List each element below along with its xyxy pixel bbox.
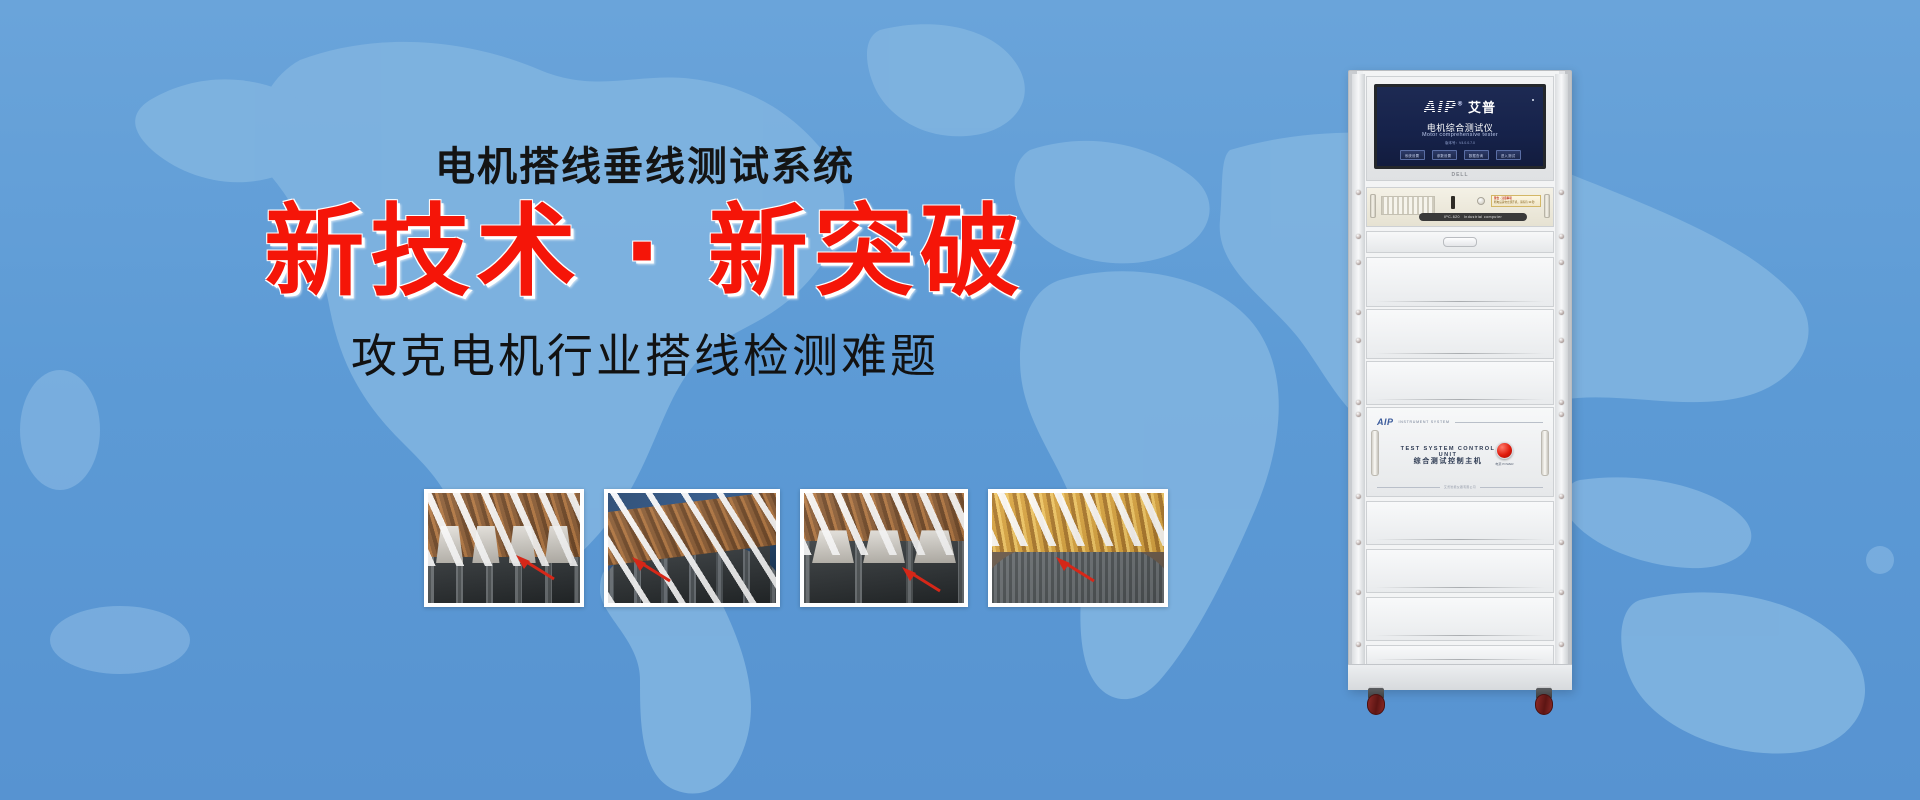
rack-screw xyxy=(1559,400,1564,405)
ipc-handle-left[interactable] xyxy=(1370,194,1376,218)
ipc-warning-label: 警告 · 注意事项 断电后请勿立即开机，请等待 30 秒 xyxy=(1491,195,1541,207)
rack-screw xyxy=(1559,494,1564,499)
test-equipment-rack: AIP®艾普 电机综合测试仪 Motor comprehensive teste… xyxy=(1348,70,1572,690)
ipc-model-plate: IPC-620 Industrial computer xyxy=(1419,213,1527,221)
rack-screw xyxy=(1356,190,1361,195)
caster-wheel-right xyxy=(1534,688,1554,716)
ipc-drive-slot[interactable] xyxy=(1451,196,1455,209)
rack-screw xyxy=(1559,310,1564,315)
control-unit-footer: 艾普智能仪器有限公司 xyxy=(1377,485,1543,489)
product-photo-strip xyxy=(424,489,1168,607)
rack-screw xyxy=(1559,260,1564,265)
drawer-handle[interactable] xyxy=(1443,237,1477,247)
rack-screw xyxy=(1559,642,1564,647)
aip-brand-logo: AIP®艾普 xyxy=(1377,99,1543,115)
rack-screw xyxy=(1559,338,1564,343)
control-unit-bay: AIP INSTRUMENT SYSTEM TEST SYSTEM CONTRO… xyxy=(1366,407,1554,497)
hero-text-block: 电机搭线垂线测试系统 新技术 · 新突破 攻克电机行业搭线检测难题 xyxy=(0,0,1290,800)
photo-4-canvas xyxy=(992,493,1164,603)
annotation-arrow-icon xyxy=(630,557,672,583)
rack-screw xyxy=(1356,400,1361,405)
promo-banner: 电机搭线垂线测试系统 新技术 · 新突破 攻克电机行业搭线检测难题 xyxy=(0,0,1920,800)
aip-wordmark: AIP xyxy=(1424,97,1457,116)
ipc-lock-dial-icon[interactable] xyxy=(1477,197,1485,205)
rack-screw xyxy=(1559,590,1564,595)
aip-brand-cn: 艾普 xyxy=(1468,101,1496,116)
control-unit-footer-note: 艾普智能仪器有限公司 xyxy=(1444,485,1476,489)
ipc-model: IPC-620 xyxy=(1444,215,1460,219)
brand-divider xyxy=(1455,422,1543,423)
hero-title: 新技术 · 新突破 xyxy=(0,196,1290,308)
screen-button-start-test[interactable]: 进入测试 xyxy=(1496,150,1521,160)
registered-trademark-icon: ® xyxy=(1457,101,1464,108)
rack-blank-panel-2 xyxy=(1366,309,1554,359)
monitor-brand-label: DELL xyxy=(1367,172,1553,178)
rack-screw xyxy=(1356,234,1361,239)
product-photo-2[interactable] xyxy=(604,489,780,607)
screen-button-parameter-settings[interactable]: 参数设置 xyxy=(1432,150,1457,160)
rack-screw xyxy=(1356,412,1361,417)
screen-button-data-query[interactable]: 数据查询 xyxy=(1464,150,1489,160)
ipc-warning-body: 断电后请勿立即开机，请等待 30 秒 xyxy=(1494,201,1538,205)
caster-wheel-left xyxy=(1366,688,1386,716)
screen-button-system-settings[interactable]: 系统设置 xyxy=(1400,150,1425,160)
control-unit-title-cn: 综合测试控制主机 xyxy=(1393,456,1503,466)
rack-blank-panel-5 xyxy=(1366,549,1554,593)
photo-sheen xyxy=(428,493,580,603)
control-unit-brand: AIP xyxy=(1377,417,1394,427)
product-photo-4[interactable] xyxy=(988,489,1168,607)
rack-blank-panel-6 xyxy=(1366,597,1554,641)
annotation-arrow-icon xyxy=(900,567,942,593)
monitor-bay: AIP®艾普 电机综合测试仪 Motor comprehensive teste… xyxy=(1366,76,1554,181)
rack-blank-panel-1 xyxy=(1366,257,1554,307)
rack-blank-panel-7 xyxy=(1366,645,1554,665)
rack-drawer-bay[interactable] xyxy=(1366,231,1554,253)
rack-screw xyxy=(1356,260,1361,265)
rack-screw xyxy=(1559,412,1564,417)
power-button-label: 电源 POWER xyxy=(1489,462,1520,467)
rack-screw xyxy=(1559,234,1564,239)
control-unit-brand-line: AIP INSTRUMENT SYSTEM xyxy=(1377,417,1543,427)
monitor-screen[interactable]: AIP®艾普 电机综合测试仪 Motor comprehensive teste… xyxy=(1377,87,1543,166)
rack-screw xyxy=(1356,642,1361,647)
photo-sheen xyxy=(992,493,1164,603)
ipc-model-en: Industrial computer xyxy=(1464,215,1502,219)
ipc-handle-right[interactable] xyxy=(1544,194,1550,218)
photo-1-canvas xyxy=(428,493,580,603)
rack-blank-panel-4 xyxy=(1366,501,1554,545)
product-photo-3[interactable] xyxy=(800,489,968,607)
hero-subtitle: 攻克电机行业搭线检测难题 xyxy=(0,320,1290,386)
photo-2-canvas xyxy=(608,493,776,603)
rack-screw xyxy=(1356,540,1361,545)
control-unit-handle-right[interactable] xyxy=(1541,430,1549,476)
rack-screw xyxy=(1356,590,1361,595)
photo-3-canvas xyxy=(804,493,964,603)
annotation-arrow-icon xyxy=(1054,557,1096,583)
power-button[interactable] xyxy=(1496,442,1513,459)
page-headline: 电机搭线垂线测试系统 xyxy=(0,134,1290,192)
rack-screw xyxy=(1356,310,1361,315)
rack-screw xyxy=(1356,338,1361,343)
control-unit-handle-left[interactable] xyxy=(1371,430,1379,476)
rack-blank-panel-3 xyxy=(1366,361,1554,405)
monitor-bezel: AIP®艾普 电机综合测试仪 Motor comprehensive teste… xyxy=(1374,84,1546,169)
product-photo-1[interactable] xyxy=(424,489,584,607)
annotation-arrow-icon xyxy=(514,555,556,581)
screen-title-en: Motor comprehensive tester xyxy=(1377,132,1543,138)
photo-sheen xyxy=(608,493,776,603)
rack-screw xyxy=(1559,190,1564,195)
control-unit-system-label: INSTRUMENT SYSTEM xyxy=(1399,420,1450,424)
rack-screw xyxy=(1559,540,1564,545)
screen-button-row: 系统设置 参数设置 数据查询 进入测试 xyxy=(1377,150,1543,160)
industrial-computer-bay: 警告 · 注意事项 断电后请勿立即开机，请等待 30 秒 IPC-620 Ind… xyxy=(1366,187,1554,227)
screen-version-label: 版本号：V4.0.0.7.0 xyxy=(1377,141,1543,146)
rack-screw xyxy=(1356,494,1361,499)
